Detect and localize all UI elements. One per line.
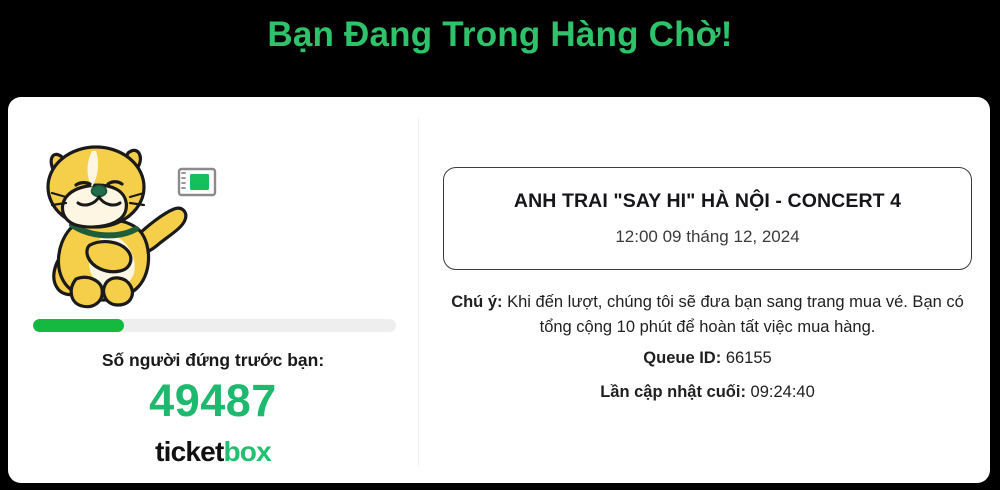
ticketbox-logo: ticketbox: [8, 436, 418, 468]
queue-id-label: Queue ID:: [643, 349, 721, 367]
queue-ahead-count: 49487: [8, 375, 418, 427]
queue-status-card: Số người đứng trước bạn: 49487 ticketbox…: [8, 97, 990, 483]
queue-left-pane: Số người đứng trước bạn: 49487 ticketbox: [8, 97, 418, 483]
notice-text: Khi đến lượt, chúng tôi sẽ đưa bạn sang …: [503, 293, 964, 336]
ticket-icon: [179, 169, 215, 195]
event-info-box: ANH TRAI "SAY HI" HÀ NỘI - CONCERT 4 12:…: [443, 167, 972, 270]
queue-notice: Chú ý: Khi đến lượt, chúng tôi sẽ đưa bạ…: [436, 290, 979, 340]
logo-text-ticket: ticket: [155, 436, 223, 467]
last-update-row: Lần cập nhật cuối: 09:24:40: [436, 383, 979, 402]
queue-progress-fill: [33, 319, 124, 332]
logo-text-box: box: [223, 436, 270, 467]
event-name: ANH TRAI "SAY HI" HÀ NỘI - CONCERT 4: [514, 190, 901, 213]
event-datetime: 12:00 09 tháng 12, 2024: [615, 227, 799, 247]
queue-id-row: Queue ID: 66155: [436, 349, 979, 368]
queue-progress-bar: [33, 319, 396, 332]
shiba-dog-mascot: [32, 133, 232, 313]
queue-right-pane: ANH TRAI "SAY HI" HÀ NỘI - CONCERT 4 12:…: [418, 97, 990, 483]
notice-label: Chú ý:: [451, 293, 502, 311]
queue-ahead-label: Số người đứng trước bạn:: [8, 350, 418, 371]
last-update-label: Lần cập nhật cuối:: [600, 383, 746, 401]
queue-id-value: 66155: [721, 349, 771, 367]
queue-page: Bạn Đang Trong Hàng Chờ!: [0, 0, 1000, 490]
last-update-value: 09:24:40: [746, 383, 815, 401]
page-title: Bạn Đang Trong Hàng Chờ!: [0, 14, 1000, 56]
